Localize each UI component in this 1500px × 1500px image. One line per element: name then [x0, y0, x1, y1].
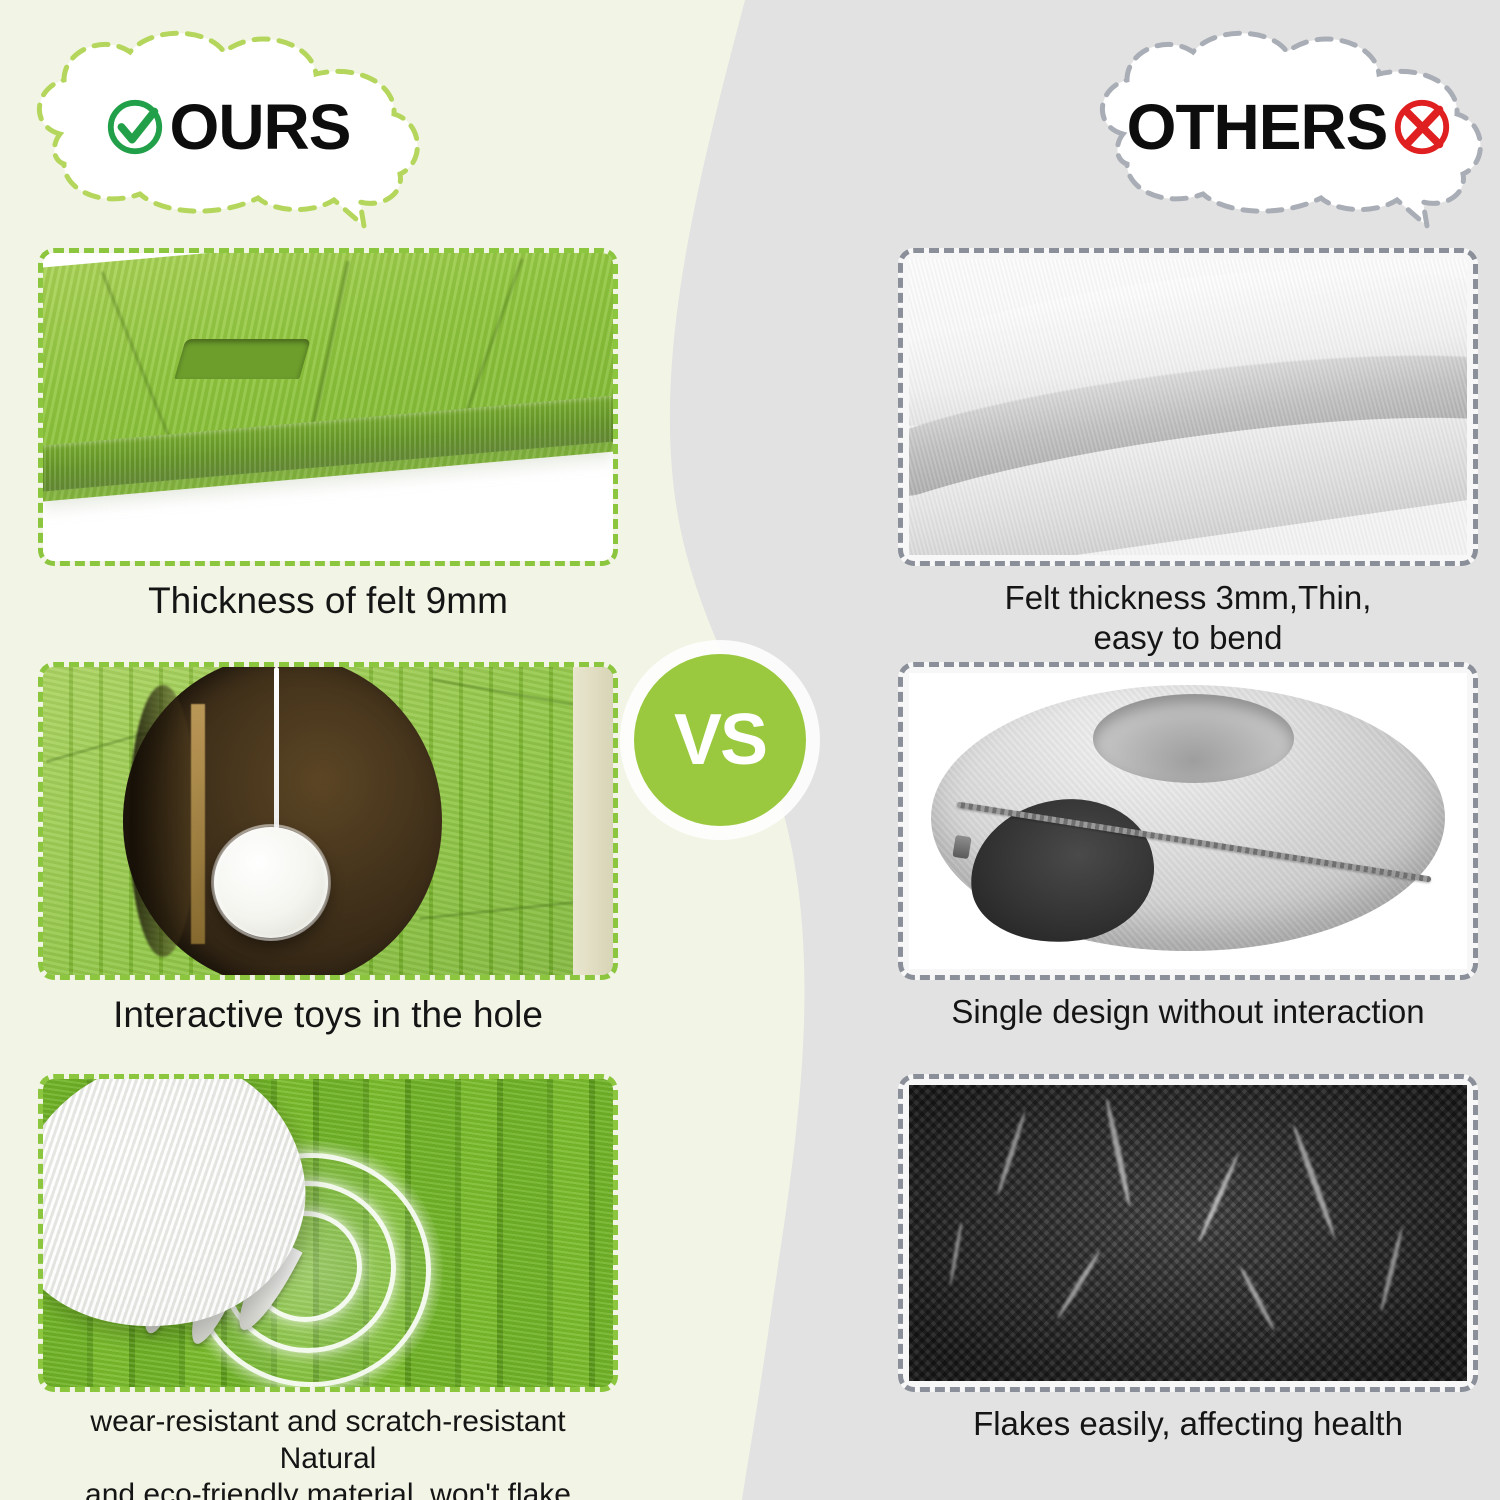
- ours-card-2: Interactive toys in the hole: [38, 662, 618, 1037]
- ours-photo-frame-1: [38, 248, 618, 566]
- others-photo-frame-1: [898, 248, 1478, 566]
- vs-label: VS: [674, 704, 766, 776]
- ours-photo-frame-3: [38, 1074, 618, 1392]
- ours-photo-3: [43, 1079, 613, 1387]
- ours-badge-title: OURS: [170, 95, 351, 159]
- others-card-2: Single design without interaction: [898, 662, 1478, 1032]
- ours-caption-3: wear-resistant and scratch-resistant Nat…: [38, 1404, 618, 1500]
- others-badge: OTHERS: [1075, 22, 1500, 232]
- circle-cross-icon: [1391, 96, 1453, 158]
- ours-caption-2: Interactive toys in the hole: [38, 992, 618, 1037]
- ours-caption-1: Thickness of felt 9mm: [38, 578, 618, 623]
- ours-photo-2: [43, 667, 613, 975]
- others-photo-frame-2: [898, 662, 1478, 980]
- others-photo-3: [909, 1085, 1467, 1381]
- ours-badge: OURS: [12, 22, 442, 232]
- comparison-infographic: OURS Thickness of felt: [0, 0, 1500, 1500]
- others-card-1: Felt thickness 3mm,Thin, easy to bend: [898, 248, 1478, 659]
- others-caption-3: Flakes easily, affecting health: [898, 1404, 1478, 1444]
- ours-card-3: wear-resistant and scratch-resistant Nat…: [38, 1074, 618, 1500]
- ours-card-1: Thickness of felt 9mm: [38, 248, 618, 623]
- ours-photo-1: [43, 253, 613, 561]
- others-card-3: Flakes easily, affecting health: [898, 1074, 1478, 1444]
- others-caption-2: Single design without interaction: [898, 992, 1478, 1032]
- vs-badge: VS: [634, 654, 806, 826]
- others-photo-2: [909, 673, 1467, 969]
- others-photo-1: [909, 259, 1467, 555]
- others-caption-1: Felt thickness 3mm,Thin, easy to bend: [898, 578, 1478, 659]
- ours-photo-frame-2: [38, 662, 618, 980]
- ours-column: OURS Thickness of felt: [10, 0, 670, 1500]
- others-photo-frame-3: [898, 1074, 1478, 1392]
- others-column: OTHERS Felt thickness: [880, 0, 1500, 1500]
- circle-check-icon: [104, 96, 166, 158]
- others-badge-title: OTHERS: [1127, 95, 1388, 159]
